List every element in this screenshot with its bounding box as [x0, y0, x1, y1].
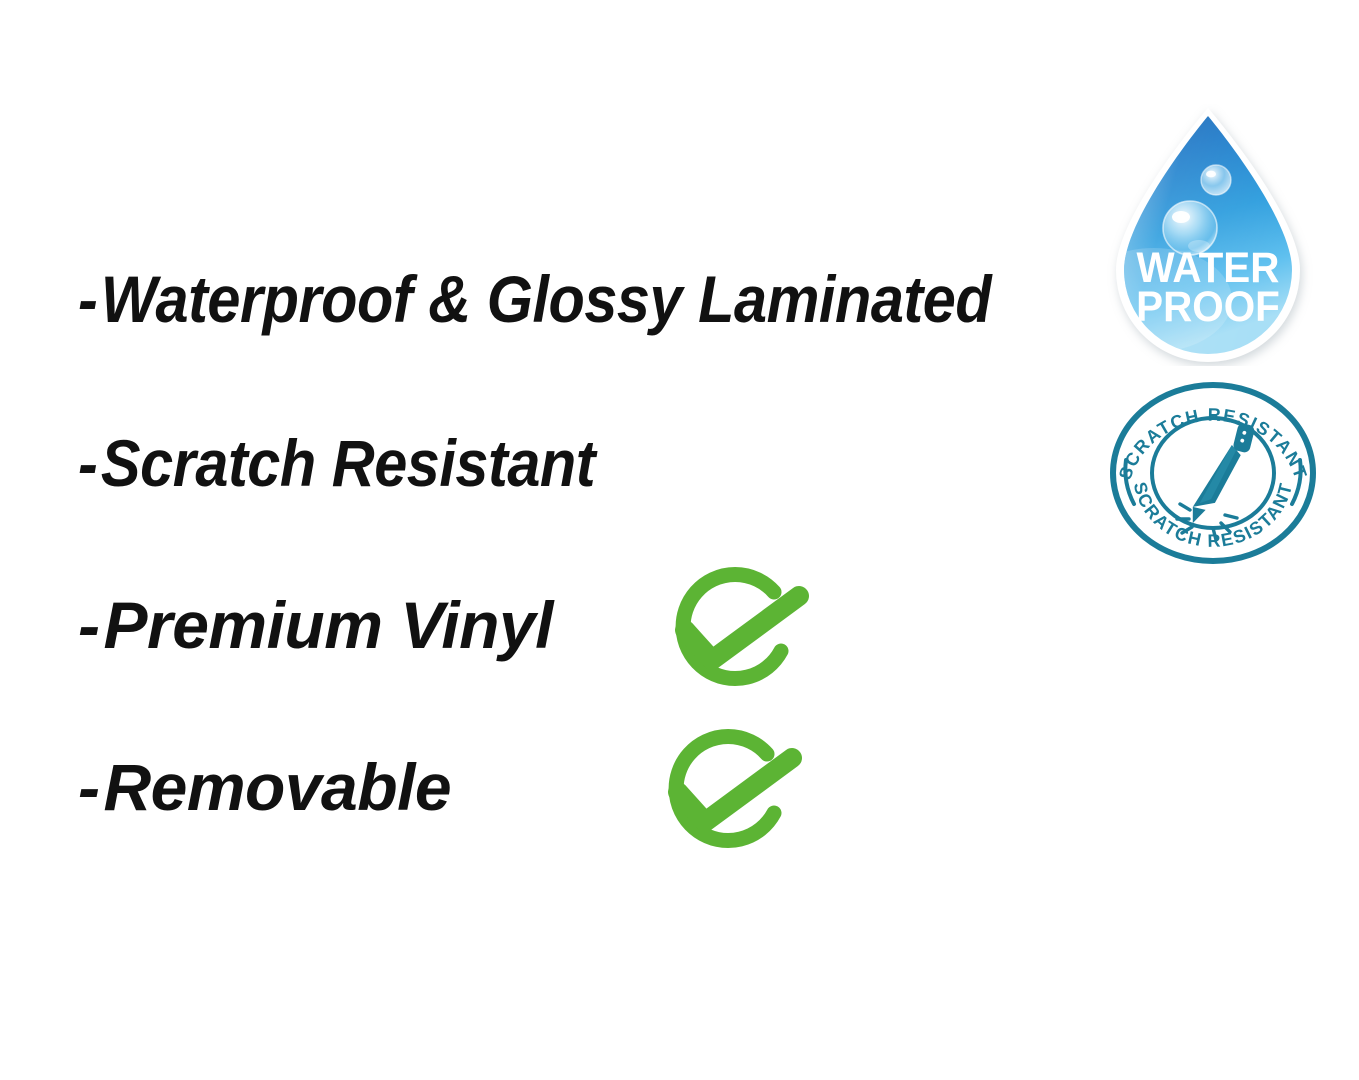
bullet-dash: - [78, 262, 97, 336]
waterproof-badge: WATER PROOF [1098, 104, 1318, 366]
feature-label: Removable [103, 750, 451, 824]
check-circle-icon-removable [629, 718, 829, 878]
feature-label: Waterproof & Glossy Laminated [101, 262, 991, 336]
water-bubble-small [1201, 165, 1231, 195]
scratch-resistant-badge: SCRATCH RESISTANT SCRATCH RESISTANT [1108, 382, 1318, 564]
feature-item-scratch-resistant: -Scratch Resistant [78, 430, 595, 496]
feature-list-graphic: -Waterproof & Glossy Laminated -Scratch … [0, 0, 1359, 1080]
bullet-dash: - [78, 750, 99, 824]
feature-item-removable: -Removable [78, 754, 451, 820]
bullet-dash: - [78, 426, 97, 500]
feature-label: Scratch Resistant [101, 426, 595, 500]
knife-icon [1187, 416, 1259, 533]
feature-item-waterproof-glossy-laminated: -Waterproof & Glossy Laminated [78, 266, 991, 332]
check-circle-icon-premium-vinyl [636, 556, 836, 716]
waterproof-line-2: PROOF [1136, 282, 1280, 330]
feature-label: Premium Vinyl [103, 588, 553, 662]
scratch-badge-top-text: SCRATCH RESISTANT [1115, 405, 1311, 483]
feature-item-premium-vinyl: -Premium Vinyl [78, 592, 553, 658]
bullet-dash: - [78, 588, 99, 662]
